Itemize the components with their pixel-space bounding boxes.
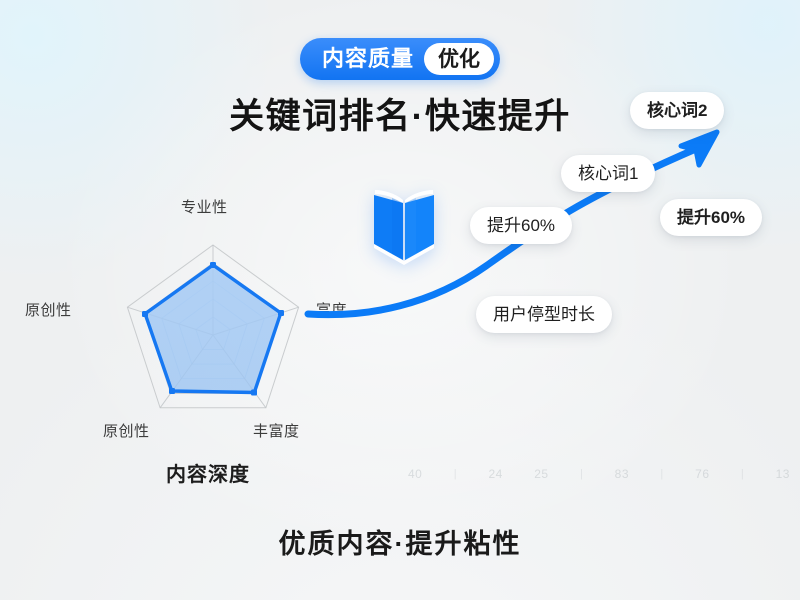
tick-value-3: 25	[534, 468, 548, 480]
tick-mark-8: |	[741, 469, 744, 480]
badge-main-label: 内容质量	[322, 48, 424, 70]
tick-value-7: 76	[695, 468, 709, 480]
tick-mark-6: |	[660, 469, 663, 480]
tick-scale-watermark: 40 | 24 25 | 83 | 76 | 13	[408, 464, 790, 484]
tick-value-5: 83	[615, 468, 629, 480]
open-book-icon	[370, 186, 438, 268]
tick-mark-4: |	[580, 469, 583, 480]
pill-dwell-time[interactable]: 用户停型时长	[476, 296, 612, 333]
poster-canvas: 内容质量 优化 关键词排名·快速提升	[0, 0, 800, 600]
pill-core-keyword-2[interactable]: 核心词2	[630, 92, 724, 129]
radar-axis-label-bottom-right: 丰富度	[253, 420, 300, 441]
radar-axis-label-left: 原创性	[25, 299, 72, 320]
tick-mark-1: |	[454, 469, 457, 480]
pill-uplift-left[interactable]: 提升60%	[470, 207, 572, 244]
radar-chart-title: 内容深度	[166, 458, 250, 487]
pill-core-keyword-1[interactable]: 核心词1	[561, 155, 655, 192]
pill-uplift-right[interactable]: 提升60%	[660, 199, 762, 236]
tick-value-9: 13	[776, 468, 790, 480]
badge-chip-label: 优化	[424, 43, 494, 75]
page-caption: 优质内容·提升粘性	[279, 522, 522, 561]
content-quality-badge[interactable]: 内容质量 优化	[300, 38, 500, 80]
radar-axis-label-top: 专业性	[181, 196, 228, 217]
radar-axis-label-bottom-left: 原创性	[103, 420, 150, 441]
tick-value-0: 40	[408, 468, 422, 480]
growth-arrow-head	[681, 132, 717, 165]
radar-data-polygon	[145, 265, 281, 393]
tick-value-2: 24	[488, 468, 502, 480]
